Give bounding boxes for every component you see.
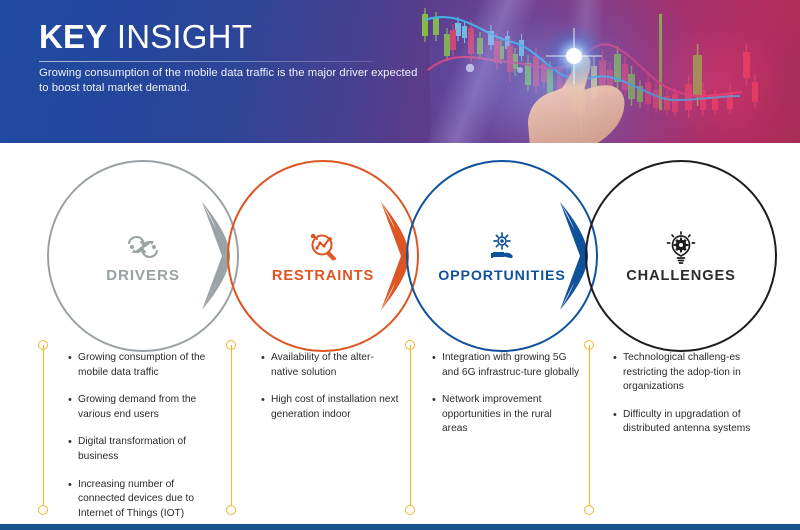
list-item: • Technological challeng-es restricting … (613, 351, 763, 395)
page-title: KEY INSIGHT (39, 17, 252, 57)
list-item: • Growing consumption of the mobile data… (68, 351, 218, 380)
node-opportunities[interactable]: OPPORTUNITIES (406, 160, 598, 352)
divider-knob-bottom (226, 505, 236, 515)
list-item: • Integration with growing 5G and 6G inf… (432, 351, 580, 380)
list-item: • Increasing number of connected devices… (68, 478, 218, 522)
magnifier-chart-icon (301, 229, 345, 267)
divider-knob-bottom (38, 505, 48, 515)
hand-holding-sun-icon (480, 229, 524, 267)
divider-line (410, 345, 411, 510)
column-divider-2 (226, 340, 237, 515)
node-label-challenges: CHALLENGES (626, 268, 736, 284)
list-item: • Digital transformation of business (68, 435, 218, 464)
lightbulb-gear-icon (659, 229, 703, 267)
bullet-text: Availability of the alter-native solutio… (271, 351, 401, 380)
node-drivers[interactable]: DRIVERS (47, 160, 239, 352)
list-item: • Availability of the alter-native solut… (261, 351, 401, 380)
bullet-column-drivers: • Growing consumption of the mobile data… (68, 351, 218, 530)
footer-bar (0, 524, 800, 530)
bullet-marker: • (68, 478, 78, 522)
node-label-restraints: RESTRAINTS (272, 268, 374, 284)
bullet-marker: • (432, 393, 442, 437)
bullet-marker: • (261, 393, 271, 422)
title-divider (39, 61, 372, 62)
bullet-text: Growing consumption of the mobile data t… (78, 351, 218, 380)
bullet-marker: • (613, 408, 623, 437)
bullet-text: Network improvement opportunities in the… (442, 393, 580, 437)
list-item: • High cost of installation next generat… (261, 393, 401, 422)
bullet-marker: • (68, 351, 78, 380)
title-light-part: INSIGHT (107, 18, 252, 55)
column-divider-4 (584, 340, 595, 515)
bullet-column-opportunities: • Integration with growing 5G and 6G inf… (432, 351, 580, 450)
bullet-text: Digital transformation of business (78, 435, 218, 464)
bullet-text: Difficulty in upgradation of distributed… (623, 408, 763, 437)
bullet-marker: • (613, 351, 623, 395)
node-challenges[interactable]: CHALLENGES (585, 160, 777, 352)
node-restraints[interactable]: RESTRAINTS (227, 160, 419, 352)
header-banner: KEY INSIGHT Growing consumption of the m… (0, 0, 800, 143)
title-bold-part: KEY (39, 18, 107, 55)
bullet-text: Technological challeng-es restricting th… (623, 351, 763, 395)
list-item: • Network improvement opportunities in t… (432, 393, 580, 437)
bullet-text: Integration with growing 5G and 6G infra… (442, 351, 580, 380)
bullet-column-restraints: • Availability of the alter-native solut… (261, 351, 401, 435)
divider-line (43, 345, 44, 510)
bullet-marker: • (432, 351, 442, 380)
list-item: • Growing demand from the various end us… (68, 393, 218, 422)
node-label-opportunities: OPPORTUNITIES (438, 268, 566, 284)
hand-touching-screen-artwork (500, 12, 700, 143)
column-divider-3 (405, 340, 416, 515)
bullet-text: Growing demand from the various end user… (78, 393, 218, 422)
node-label-drivers: DRIVERS (106, 267, 180, 284)
bullet-text: Increasing number of connected devices d… (78, 478, 218, 522)
process-stage: DRIVERS (0, 143, 800, 530)
list-item: • Difficulty in upgradation of distribut… (613, 408, 763, 437)
divider-knob-bottom (405, 505, 415, 515)
infographic-canvas: KEY INSIGHT Growing consumption of the m… (0, 0, 800, 530)
gears-cycle-icon (121, 228, 165, 266)
bullet-marker: • (261, 351, 271, 380)
divider-knob-bottom (584, 505, 594, 515)
divider-line (589, 345, 590, 510)
bullet-marker: • (68, 435, 78, 464)
divider-line (231, 345, 232, 510)
column-divider-1 (38, 340, 49, 515)
bullet-text: High cost of installation next generatio… (271, 393, 401, 422)
bullet-marker: • (68, 393, 78, 422)
subtitle: Growing consumption of the mobile data t… (39, 66, 419, 97)
bullet-column-challenges: • Technological challeng-es restricting … (613, 351, 763, 450)
